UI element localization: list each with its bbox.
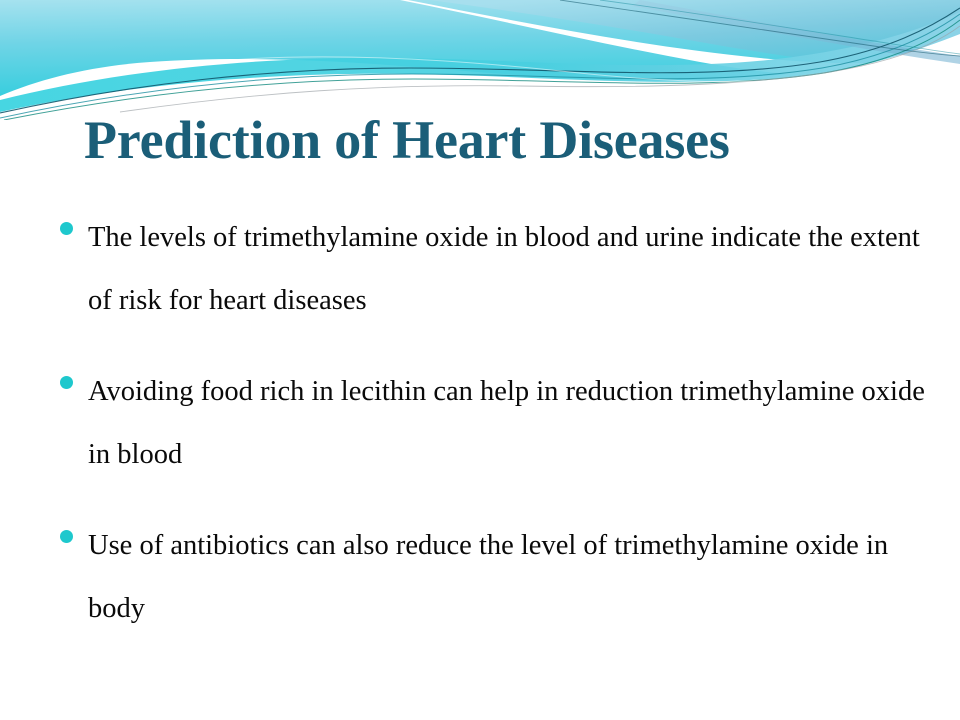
wave-line-grey-4 bbox=[120, 26, 960, 112]
bullet-dot-icon bbox=[60, 376, 73, 389]
list-item: Avoiding food rich in lecithin can help … bbox=[48, 360, 928, 486]
list-item-text: Use of antibiotics can also reduce the l… bbox=[88, 514, 928, 640]
wave-line-dark-teal-5 bbox=[560, 0, 960, 56]
list-item: Use of antibiotics can also reduce the l… bbox=[48, 514, 928, 640]
bullet-dot-icon bbox=[60, 222, 73, 235]
wave-shape-white-lower bbox=[0, 34, 960, 120]
wave-shape-right-sweep bbox=[430, 0, 960, 74]
presentation-slide: Prediction of Heart Diseases The levels … bbox=[0, 0, 960, 720]
bullet-list: The levels of trimethylamine oxide in bl… bbox=[48, 206, 928, 640]
wave-line-green-teal-3 bbox=[4, 20, 960, 120]
wave-line-teal-2 bbox=[0, 14, 960, 118]
list-item-text: Avoiding food rich in lecithin can help … bbox=[88, 360, 928, 486]
list-item: The levels of trimethylamine oxide in bl… bbox=[48, 206, 928, 332]
wave-banner-decoration bbox=[0, 0, 960, 120]
wave-shape-steel-sliver bbox=[632, 0, 960, 64]
wave-line-dark-teal-6 bbox=[600, 0, 960, 54]
wave-line-dark-teal-1 bbox=[0, 8, 960, 113]
wave-shape-base bbox=[0, 0, 960, 96]
wave-banner-svg bbox=[0, 0, 960, 120]
wave-shape-cyan-band bbox=[0, 12, 960, 112]
list-item-text: The levels of trimethylamine oxide in bl… bbox=[88, 206, 928, 332]
bullet-dot-icon bbox=[60, 530, 73, 543]
wave-shape-white-ribbon-upper bbox=[400, 0, 960, 80]
wave-line-light-1 bbox=[230, 57, 870, 82]
page-title: Prediction of Heart Diseases bbox=[84, 112, 904, 169]
